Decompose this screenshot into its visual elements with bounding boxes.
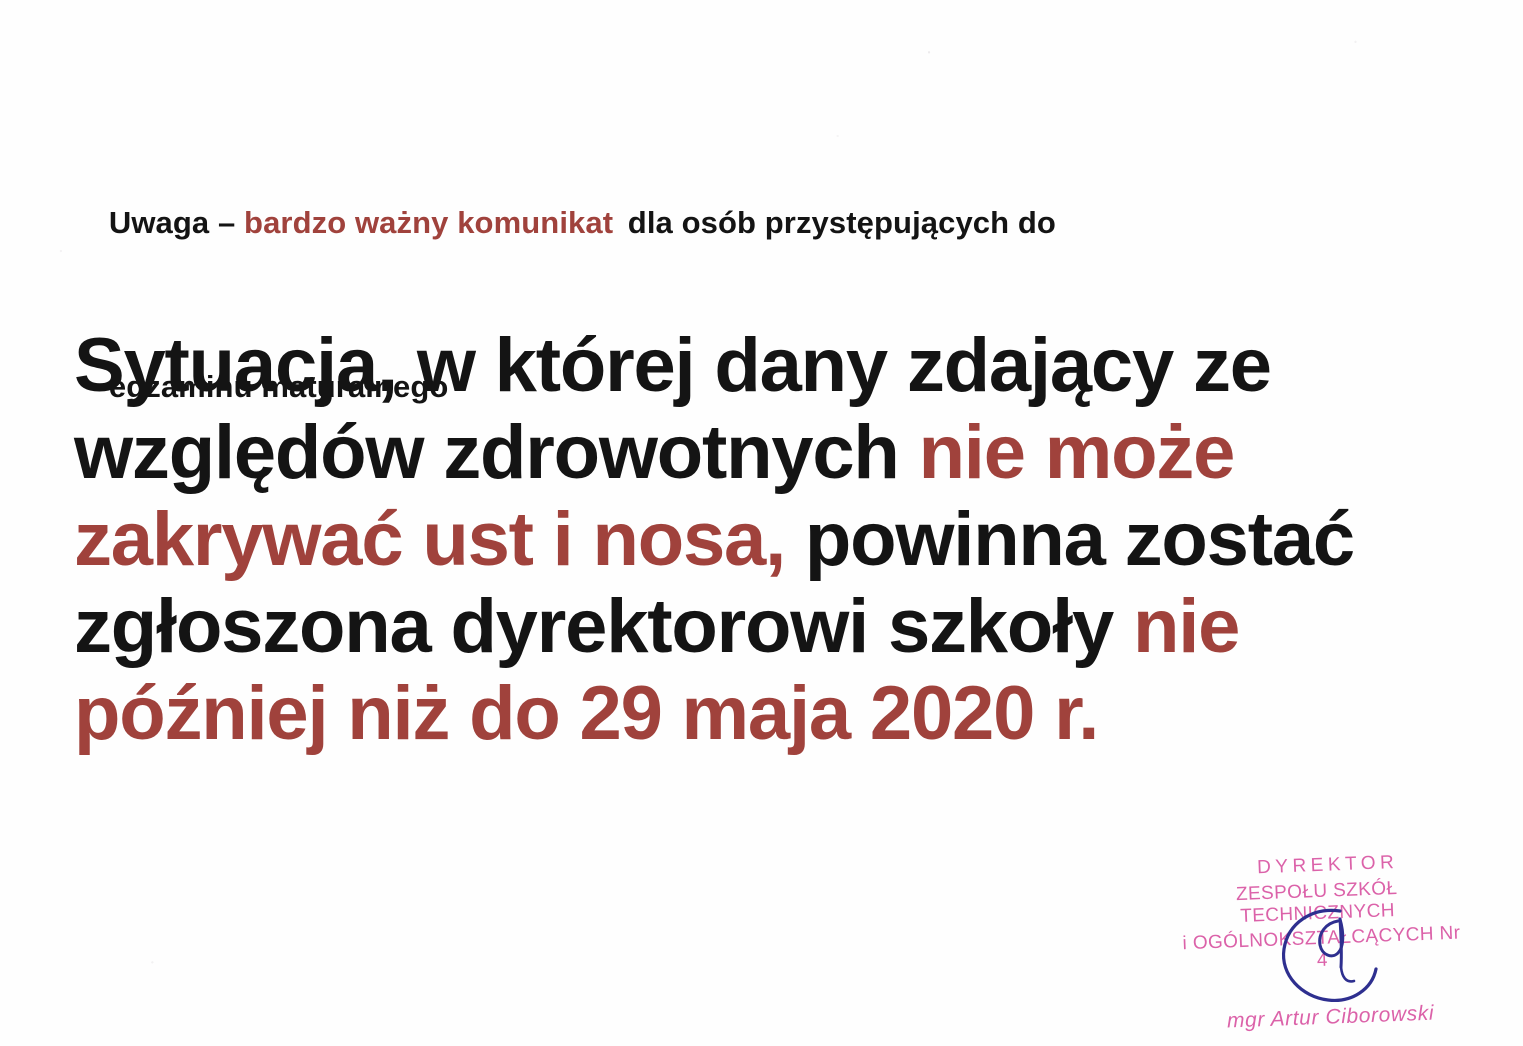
heading-part-highlight: bardzo ważny komunikat [244, 205, 613, 240]
stamp-line-name: mgr Artur Ciborowski [1189, 1000, 1472, 1035]
scanned-document-page: Uwaga – bardzo ważny komunikat dla osób … [0, 0, 1523, 1046]
stamp-line-school-cont: i OGÓLNOKSZTAŁCĄCYCH Nr 4 [1174, 922, 1469, 977]
heading-part-uwaga: Uwaga – [109, 205, 244, 240]
heading-spacer [613, 205, 628, 240]
body-seg-3-1: zakrywać ust i nosa [74, 497, 765, 582]
body-seg-2-1: względów zdrowotnych [74, 410, 919, 495]
body-seg-4-1: zgłoszona dyrektorowi szkoły [74, 584, 1133, 669]
body-line-3: zakrywać ust i nosa, powinna zostać [74, 496, 1434, 583]
body-seg-3-2: , [765, 497, 785, 582]
heading-part-audience: dla osób przystępujących do [628, 205, 1056, 240]
body-line-1: Sytuacja, w której dany zdający ze [74, 322, 1434, 409]
body-seg-4-2: nie [1133, 584, 1239, 669]
stamp-text-block: DYREKTOR ZESPOŁU SZKÓŁ TECHNICZNYCH i OG… [1165, 849, 1471, 1035]
body-seg-3-3: powinna zostać [785, 497, 1354, 582]
body-line-4: zgłoszona dyrektorowi szkoły nie [74, 583, 1434, 670]
announcement-body: Sytuacja, w której dany zdający ze wzglę… [74, 322, 1434, 757]
body-seg-1-1: Sytuacja, w której dany zdający ze [74, 323, 1271, 408]
director-stamp: DYREKTOR ZESPOŁU SZKÓŁ TECHNICZNYCH i OG… [1165, 849, 1470, 1000]
stamp-line-school: ZESPOŁU SZKÓŁ TECHNICZNYCH [1166, 875, 1467, 930]
body-line-5: później niż do 29 maja 2020 r. [74, 670, 1434, 757]
body-seg-5-1: później niż do 29 maja 2020 r. [74, 671, 1098, 756]
body-line-2: względów zdrowotnych nie może [74, 409, 1434, 496]
body-seg-2-2: nie może [919, 410, 1235, 495]
